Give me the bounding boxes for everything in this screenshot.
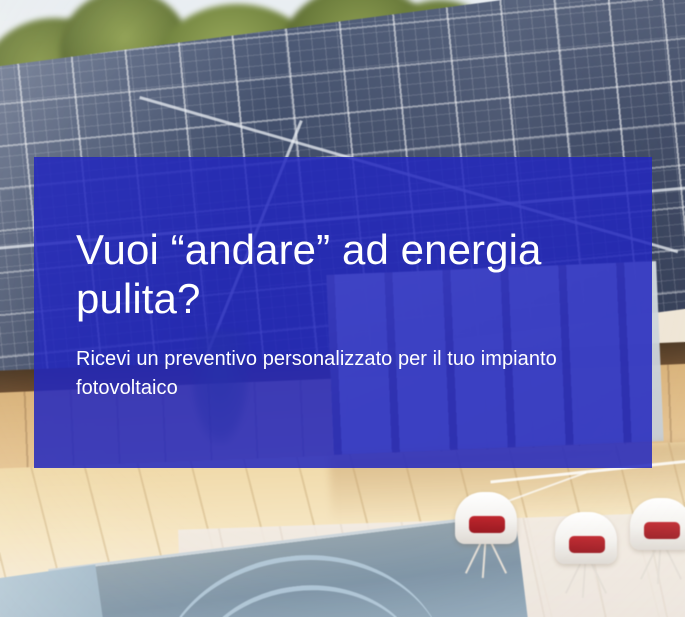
hero-banner: Vuoi “andare” ad energia pulita? Ricevi …	[0, 0, 685, 617]
hero-overlay-panel: Vuoi “andare” ad energia pulita? Ricevi …	[34, 157, 652, 468]
hero-heading: Vuoi “andare” ad energia pulita?	[76, 225, 621, 323]
hero-subheading: Ricevi un preventivo personalizzato per …	[76, 345, 596, 402]
